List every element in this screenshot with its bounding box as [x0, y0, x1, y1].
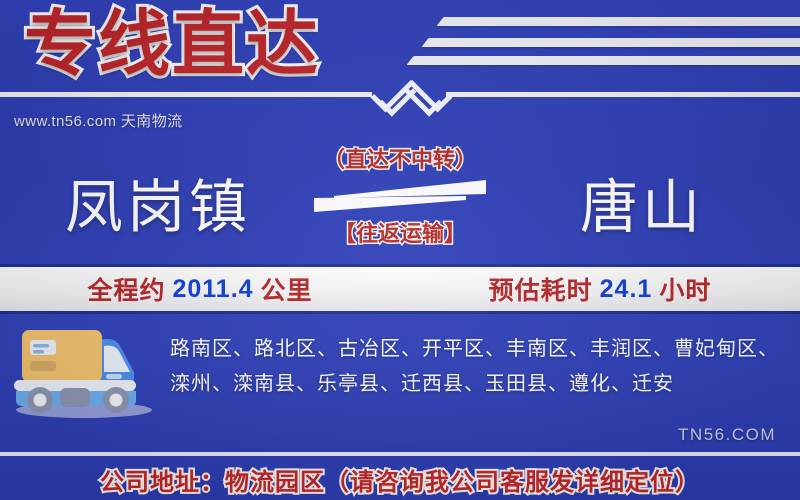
- poster-vignette-overlay: [0, 0, 800, 500]
- logistics-route-poster: 专线直达 www.tn56.com 天南物流 凤岗镇 （直达不中转） 【往: [0, 0, 800, 500]
